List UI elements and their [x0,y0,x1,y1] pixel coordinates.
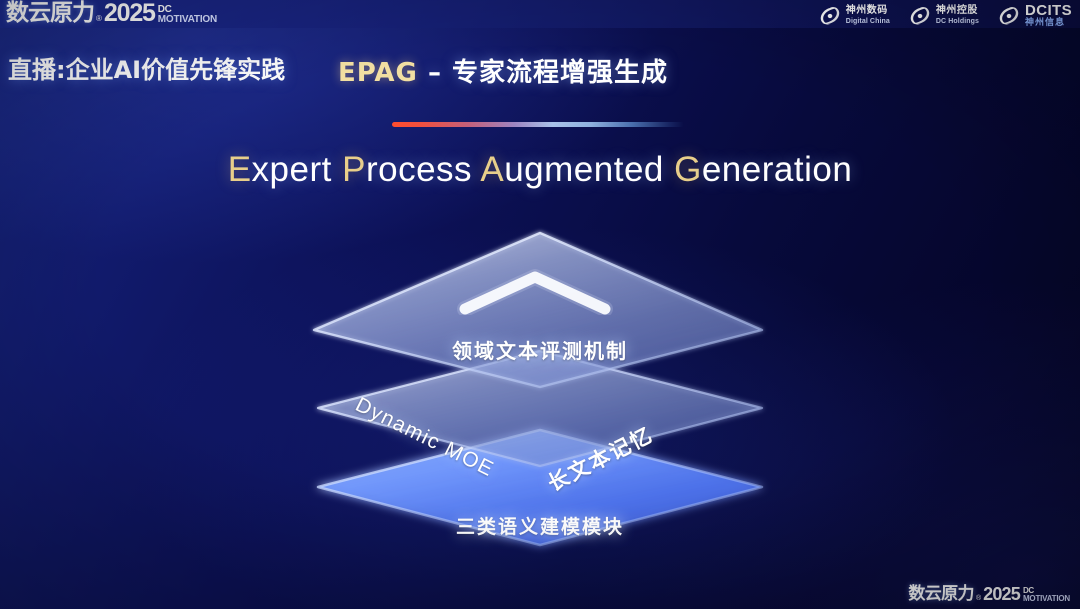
expansion-space-3 [664,150,674,189]
chevron-up-icon [455,267,615,315]
partner-digital-china: 神州数码 Digital China [818,5,890,27]
expansion-cap-g: G [674,150,702,189]
expansion-cap-a: A [480,150,504,189]
watermark-motivation-text: MOTIVATION [1023,594,1070,603]
brand-year: 2025 [104,0,155,26]
expansion-space-1 [332,150,342,189]
partner-logo-group: 神州数码 Digital China 神州控股 DC Holdings [818,3,1072,28]
expansion-rest-expert: xpert [252,150,332,189]
footer-watermark: 数云原力 ® 2025 DC MOTIVATION [908,585,1070,604]
gradient-divider [392,122,684,127]
live-stream-title: 直播:企业AI价值先锋实践 [8,50,285,85]
partner-name-cn: 神州数码 [846,6,890,16]
page-title-acronym: EPAG [338,58,418,88]
partner-name-en: DC Holdings [936,18,979,25]
swirl-icon [908,5,932,27]
page-title-separator: – [418,58,452,88]
acronym-expansion: Expert Process Augmented Generation [0,150,1080,190]
partner-name-en: DCITS [1025,3,1072,18]
expansion-rest-process: rocess [366,150,472,189]
brand-motivation-text: MOTIVATION [158,14,217,25]
slide-canvas: 数云原力 ® 2025 DC MOTIVATION 神州数码 Digital C… [0,0,1080,609]
layered-architecture-diagram: 领域文本评测机制 Dynamic MOE 长文本记忆 三类语义建模模块 [300,225,780,570]
partner-name-en: Digital China [846,18,890,25]
watermark-year: 2025 [983,585,1020,604]
partner-dc-holdings: 神州控股 DC Holdings [908,5,979,27]
expansion-cap-e: E [228,150,252,189]
brand-registered-mark: ® [96,12,102,26]
partner-dcits: DCITS 神州信息 [997,3,1072,28]
brand-dc-text: DC [158,5,217,14]
watermark-registered-mark: ® [976,594,981,604]
partner-label: DCITS 神州信息 [1025,3,1072,28]
partner-name-cn: 神州控股 [936,6,979,16]
expansion-rest-augmented: ugmented [504,150,664,189]
brand-name-cn: 数云原力 [6,0,94,26]
partner-name-cn: 神州信息 [1025,19,1072,28]
page-title: EPAG – 专家流程增强生成 [338,52,668,89]
swirl-icon [997,5,1021,27]
partner-label: 神州数码 Digital China [846,6,890,25]
watermark-dc-text: DC [1023,587,1070,594]
brand-logo: 数云原力 ® 2025 DC MOTIVATION [6,0,217,26]
watermark-name-cn: 数云原力 [908,585,974,604]
watermark-dc-motivation: DC MOTIVATION [1023,587,1070,604]
partner-label: 神州控股 DC Holdings [936,6,979,25]
swirl-icon [818,5,842,27]
page-title-chinese: 专家流程增强生成 [452,58,668,88]
expansion-rest-generation: eneration [702,150,852,189]
brand-dc-motivation: DC MOTIVATION [158,5,217,26]
expansion-cap-p: P [342,150,366,189]
